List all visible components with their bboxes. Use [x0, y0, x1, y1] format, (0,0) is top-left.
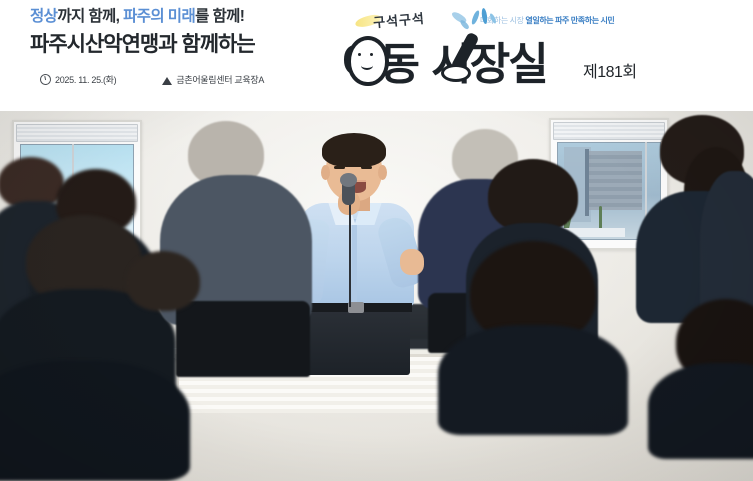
speaker-ear-left: [321, 165, 330, 180]
speaker-ear-right: [378, 165, 387, 180]
speaker-eye-right: [361, 166, 372, 169]
title-highlight-2: 파주의 미래: [123, 8, 195, 25]
title-plain-1: 까지 함께,: [57, 8, 123, 25]
edition-label: 제181회: [583, 58, 637, 82]
event-date-label: 2025. 11. 25.(화): [55, 73, 116, 86]
meta-row: 2025. 11. 25.(화) 금촌어울림센터 교육장A: [40, 73, 264, 86]
audience-head-6: [488, 159, 578, 233]
audience-chair-center: [176, 301, 310, 377]
logo-tagline-part-2: 열일하는 파주 만족하는 시민: [525, 16, 614, 25]
microphone-cord: [349, 203, 351, 307]
logo-walking-foot-icon: [441, 64, 471, 82]
audience-head-4: [126, 251, 200, 311]
speaker-eye-left: [334, 166, 345, 169]
clock-icon: [39, 73, 52, 86]
speaker-hand-gesturing: [400, 249, 424, 275]
logo-face-eye-right: [370, 53, 373, 56]
speaker-trousers: [302, 311, 410, 375]
event-photo: [0, 111, 753, 481]
audience-body-7: [438, 325, 628, 435]
event-venue-label: 금촌어울림센터 교육장A: [176, 73, 264, 86]
logo-face-character-icon: [347, 36, 389, 86]
audience-body-11: [0, 361, 190, 481]
speaker-shirt-placket: [352, 219, 357, 307]
event-venue: 금촌어울림센터 교육장A: [162, 73, 264, 86]
title-highlight-1: 정상: [30, 8, 57, 25]
logo-face-eye-left: [358, 53, 361, 56]
event-date: 2025. 11. 25.(화): [40, 73, 116, 86]
event-banner-page: 정상까지 함께, 파주의 미래를 함께! 파주시산악연맹과 함께하는 2025.…: [0, 0, 753, 481]
title-line-1: 정상까지 함께, 파주의 미래를 함께!: [30, 6, 360, 28]
header: 정상까지 함께, 파주의 미래를 함께! 파주시산악연맹과 함께하는 2025.…: [0, 0, 753, 110]
title-line-2: 파주시산악연맹과 함께하는: [30, 30, 360, 60]
program-logo: 구석구석 대화하는 시장 열일하는 파주 만족하는 시민 이동 시장실: [355, 2, 595, 98]
logo-face-smile: [361, 61, 373, 70]
mountain-icon: [162, 77, 172, 85]
logo-tagline: 대화하는 시장 열일하는 파주 만족하는 시민: [480, 15, 614, 26]
title-plain-2: 를 함께!: [195, 8, 244, 25]
window-blind-right: [553, 122, 665, 140]
microphone-head: [340, 173, 357, 187]
window-blind-left: [16, 124, 138, 142]
audience-body-10: [648, 363, 753, 459]
title-block: 정상까지 함께, 파주의 미래를 함께! 파주시산악연맹과 함께하는: [30, 6, 360, 60]
exterior-pipe: [585, 149, 589, 216]
exterior-brick-wall: [589, 151, 642, 211]
